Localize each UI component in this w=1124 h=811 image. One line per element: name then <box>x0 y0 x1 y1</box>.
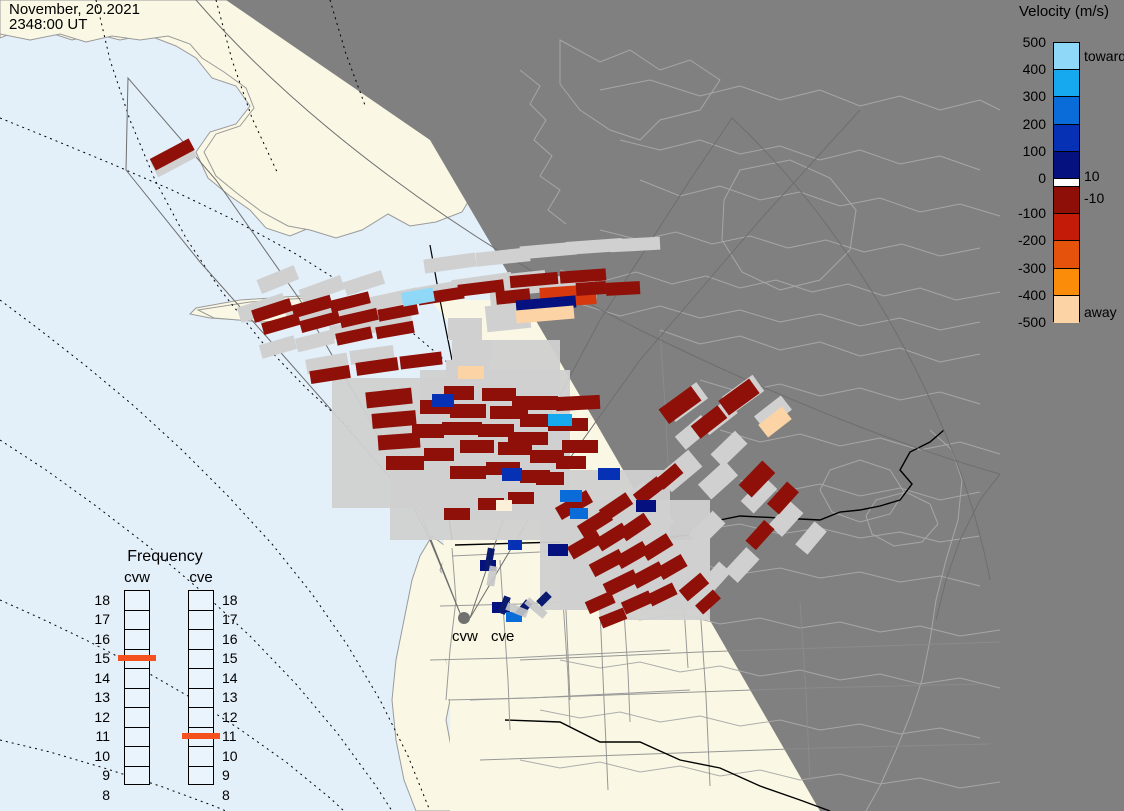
colorbar-band-9 <box>1054 269 1079 296</box>
frequency-cell <box>125 669 149 689</box>
frequency-cell <box>189 611 213 631</box>
colorbar-band-7 <box>1054 214 1079 241</box>
frequency-marker-cvw <box>118 655 156 661</box>
timestamp-label: November, 20.2021 2348:00 UT <box>9 2 140 32</box>
colorbar-tick--400: -400 <box>1018 287 1046 303</box>
colorbar-band-1 <box>1054 70 1079 97</box>
frequency-cell <box>125 591 149 611</box>
colorbar-tick-300: 300 <box>1023 88 1046 104</box>
frequency-scale-label-8: 8 <box>222 787 246 803</box>
frequency-scale-label-13: 13 <box>222 689 246 705</box>
frequency-bar-cve <box>188 590 214 785</box>
frequency-cell <box>189 708 213 728</box>
colorbar-tick-400: 400 <box>1023 61 1046 77</box>
colorbar-positive-threshold: 10 <box>1084 168 1100 184</box>
site-label-cvw: cvw <box>452 628 478 645</box>
frequency-scale-label-13: 13 <box>86 689 110 705</box>
colorbar-tick--500: -500 <box>1018 314 1046 330</box>
frequency-gauge-label-cve: cve <box>178 569 224 586</box>
frequency-cell <box>189 630 213 650</box>
colorbar-tick--300: -300 <box>1018 260 1046 276</box>
radar-map-figure: cvw cve November, 20.2021 2348:00 UT Vel… <box>0 0 1124 811</box>
site-label-cve: cve <box>491 628 514 645</box>
frequency-cell <box>125 611 149 631</box>
colorbar-band-6 <box>1054 187 1079 214</box>
colorbar-negative-threshold: -10 <box>1084 190 1104 206</box>
frequency-scale-label-8: 8 <box>86 787 110 803</box>
colorbar-away-label: away <box>1084 304 1117 320</box>
frequency-cell <box>125 708 149 728</box>
colorbar-tick--200: -200 <box>1018 232 1046 248</box>
frequency-scale-label-16: 16 <box>222 631 246 647</box>
frequency-scale-label-11: 11 <box>222 728 246 744</box>
frequency-scale-label-12: 12 <box>222 709 246 725</box>
frequency-cell <box>189 591 213 611</box>
colorbar-toward-label: toward <box>1084 48 1124 64</box>
frequency-marker-cve <box>182 733 220 739</box>
frequency-bar-cvw <box>124 590 150 785</box>
radar-site-marker[interactable] <box>458 612 470 624</box>
colorbar-band-0 <box>1054 43 1079 70</box>
frequency-scale-label-15: 15 <box>222 650 246 666</box>
velocity-colorbar <box>1053 42 1080 322</box>
frequency-legend: Frequency cvw 18171615141312111098 cve 1… <box>80 545 250 811</box>
frequency-cell <box>189 767 213 787</box>
frequency-scale-label-15: 15 <box>86 650 110 666</box>
frequency-cell <box>189 689 213 709</box>
colorbar-band-8 <box>1054 241 1079 268</box>
frequency-cell <box>189 650 213 670</box>
frequency-gauge-label-cvw: cvw <box>114 569 160 586</box>
frequency-scale-label-9: 9 <box>222 767 246 783</box>
frequency-scale-label-9: 9 <box>86 767 110 783</box>
frequency-cell <box>189 669 213 689</box>
colorbar-band-5 <box>1054 179 1079 187</box>
frequency-cell <box>125 767 149 787</box>
frequency-scale-label-18: 18 <box>222 592 246 608</box>
frequency-scale-label-11: 11 <box>86 728 110 744</box>
colorbar-band-3 <box>1054 125 1079 152</box>
colorbar-tick-100: 100 <box>1023 143 1046 159</box>
colorbar-tick-0: 0 <box>1038 170 1046 186</box>
frequency-title: Frequency <box>80 548 250 566</box>
frequency-scale-label-14: 14 <box>86 670 110 686</box>
frequency-scale-label-10: 10 <box>86 748 110 764</box>
frequency-cell <box>125 747 149 767</box>
frequency-scale-label-16: 16 <box>86 631 110 647</box>
frequency-cell <box>125 728 149 748</box>
frequency-scale-label-12: 12 <box>86 709 110 725</box>
frequency-scale-label-17: 17 <box>86 611 110 627</box>
colorbar-band-2 <box>1054 97 1079 124</box>
frequency-scale-label-17: 17 <box>222 611 246 627</box>
frequency-scale-label-14: 14 <box>222 670 246 686</box>
colorbar-title: Velocity (m/s) <box>1004 3 1124 20</box>
frequency-scale-label-18: 18 <box>86 592 110 608</box>
frequency-cell <box>189 747 213 767</box>
frequency-cell <box>125 630 149 650</box>
colorbar-tick--100: -100 <box>1018 205 1046 221</box>
colorbar-tick-200: 200 <box>1023 116 1046 132</box>
velocity-colorbar-panel: Velocity (m/s) 5004003002001000-100-200-… <box>1000 0 1124 811</box>
frequency-scale-label-10: 10 <box>222 748 246 764</box>
colorbar-band-4 <box>1054 152 1079 179</box>
colorbar-tick-500: 500 <box>1023 34 1046 50</box>
colorbar-band-10 <box>1054 296 1079 323</box>
frequency-cell <box>125 689 149 709</box>
